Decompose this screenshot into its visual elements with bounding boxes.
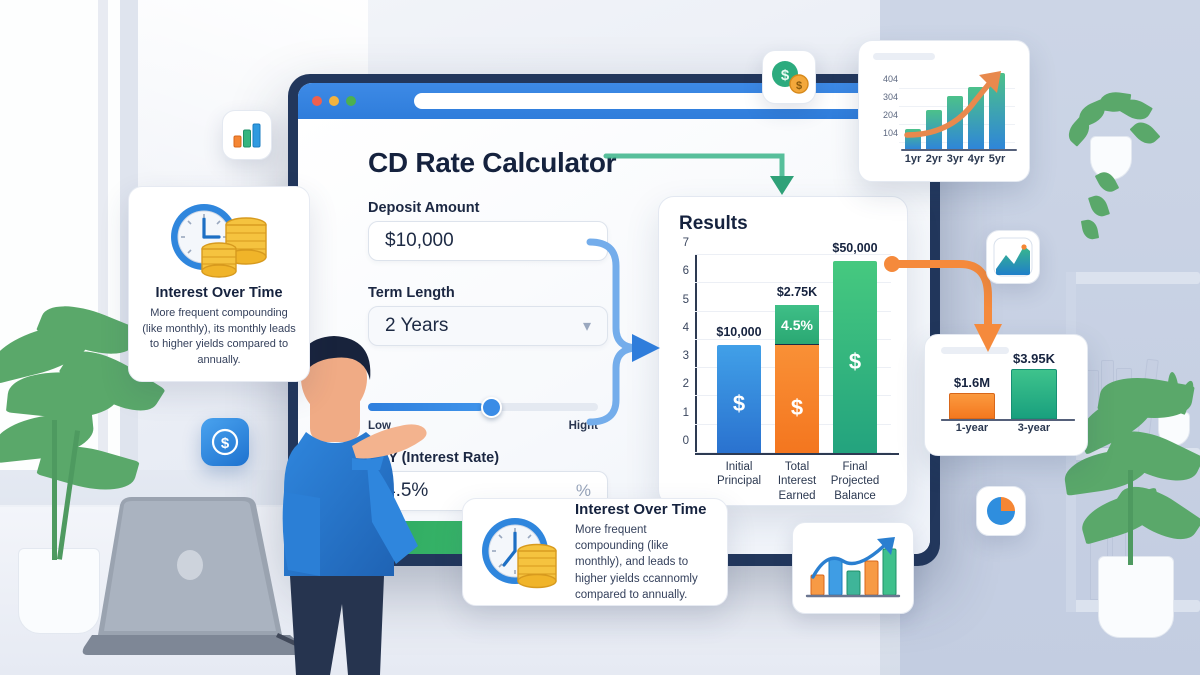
deposit-amount-label: Deposit Amount [368, 200, 479, 216]
x-label-initial-principal: Initial Principal [708, 460, 770, 489]
x-label-final-projected-balance: Final Projected Balance [824, 460, 886, 503]
browser-titlebar [298, 83, 930, 119]
bar-segment-label: 4.5% [781, 317, 813, 333]
mini-value-1-year: $1.6M [954, 375, 990, 390]
dollar-circle-icon: $ [210, 427, 240, 457]
results-bar-chart: 0 1 2 3 4 5 6 7 $10,000 $ Initial Princi… [695, 255, 891, 455]
mini-y-304: 304 [883, 92, 898, 102]
mini-bar-1-year: $1.6M 1-year [949, 393, 995, 419]
slider-handle[interactable] [481, 397, 502, 418]
upward-trend-arrow-icon [901, 65, 1017, 149]
mini-label-1-year: 1-year [947, 422, 997, 434]
info-card-title: Interest Over Time [575, 501, 713, 518]
mini-x-axis [901, 149, 1017, 151]
term-length-select[interactable]: 2 Years ▾ [368, 306, 608, 346]
results-title: Results [679, 213, 748, 235]
maximize-button[interactable] [346, 96, 356, 106]
pie-chart-icon [985, 495, 1017, 527]
mini-y-204: 204 [883, 110, 898, 120]
deposit-amount-value: $10,000 [385, 230, 454, 252]
info-card-body: More frequent compounding (like monthly)… [575, 522, 713, 602]
bar-segment-rate: 4.5% [775, 305, 819, 345]
y-tick-1: 1 [683, 407, 689, 419]
mini-y-404: 404 [883, 74, 898, 84]
mini-label-3-year: 3-year [1009, 422, 1059, 434]
dollar-circle-icon-badge[interactable]: $ [201, 418, 249, 466]
growth-bar-chart: 404 304 204 104 1yr 2yr 3yr 4yr 5yr [903, 69, 1015, 151]
inputs-to-results-arrow [586, 236, 676, 436]
bar-label-final-projected-balance: $50,000 [832, 241, 877, 255]
svg-text:$: $ [221, 435, 230, 452]
y-tick-5: 5 [683, 294, 689, 306]
results-card: Results 0 1 2 3 4 5 6 7 $10,000 $ [658, 196, 908, 506]
y-tick-2: 2 [683, 378, 689, 390]
url-bar[interactable] [414, 93, 892, 109]
bar-initial-principal: $10,000 $ Initial Principal [717, 345, 761, 453]
y-tick-4: 4 [683, 322, 689, 334]
bar-chart-icon-badge[interactable] [222, 110, 272, 160]
growth-chart-card: 404 304 204 104 1yr 2yr 3yr 4yr 5yr [858, 40, 1030, 182]
info-card-interest-over-time-bottom: Interest Over Time More frequent compoun… [462, 498, 728, 606]
card-title-placeholder [873, 53, 935, 60]
svg-text:$: $ [796, 80, 802, 92]
mini-bar-3-year: $3.95K 3-year [1011, 369, 1057, 419]
clock-coins-icon [141, 201, 297, 279]
x-axis [695, 453, 899, 455]
money-coin-icon: $ $ [770, 60, 808, 94]
y-tick-7: 7 [683, 237, 689, 249]
person-illustration [276, 332, 396, 675]
money-coin-icon-badge[interactable]: $ $ [762, 50, 816, 104]
comparison-bar-chart: $1.6M 1-year $3.95K 3-year [943, 361, 1073, 439]
dollar-glyph: $ [733, 391, 745, 417]
info-card-body: More frequent compounding (like monthly)… [141, 306, 297, 368]
svg-text:$: $ [781, 67, 790, 84]
window-controls[interactable] [312, 96, 356, 106]
term-length-label: Term Length [368, 285, 455, 301]
y-tick-0: 0 [683, 435, 689, 447]
clock-coins-icon [477, 513, 563, 591]
person-pointing-hand [352, 400, 432, 470]
bar-chart-trend-icon [805, 535, 901, 601]
minimize-button[interactable] [329, 96, 339, 106]
bar-label-total-interest-earned: $2.75K [777, 285, 817, 299]
y-axis [695, 255, 697, 455]
title-to-results-arrow [604, 150, 814, 200]
y-tick-3: 3 [683, 350, 689, 362]
bar-label-initial-principal: $10,000 [716, 325, 761, 339]
mini-y-104: 104 [883, 128, 898, 138]
area-chart-icon [993, 237, 1033, 277]
deposit-amount-input[interactable]: $10,000 [368, 221, 608, 261]
info-card-title: Interest Over Time [141, 285, 297, 301]
area-chart-icon-badge[interactable] [986, 230, 1040, 284]
x-label-total-interest-earned: Total Interest Earned [766, 460, 828, 503]
bar-final-projected-balance: $50,000 $ Final Projected Balance [833, 261, 877, 453]
pie-chart-icon-badge[interactable] [976, 486, 1026, 536]
page-title: CD Rate Calculator [368, 147, 616, 179]
close-button[interactable] [312, 96, 322, 106]
info-card-interest-over-time-left: Interest Over Time More frequent compoun… [128, 186, 310, 382]
bar-chart-trend-icon-badge[interactable] [792, 522, 914, 614]
bar-chart-icon [232, 122, 262, 148]
bar-total-interest-earned: 4.5% $2.75K $ Total Interest Earned [775, 305, 819, 453]
illustration-scene: CD Rate Calculator Deposit Amount $10,00… [0, 0, 1200, 675]
dollar-glyph: $ [849, 349, 861, 375]
y-tick-6: 6 [683, 265, 689, 277]
dollar-glyph: $ [791, 395, 803, 421]
